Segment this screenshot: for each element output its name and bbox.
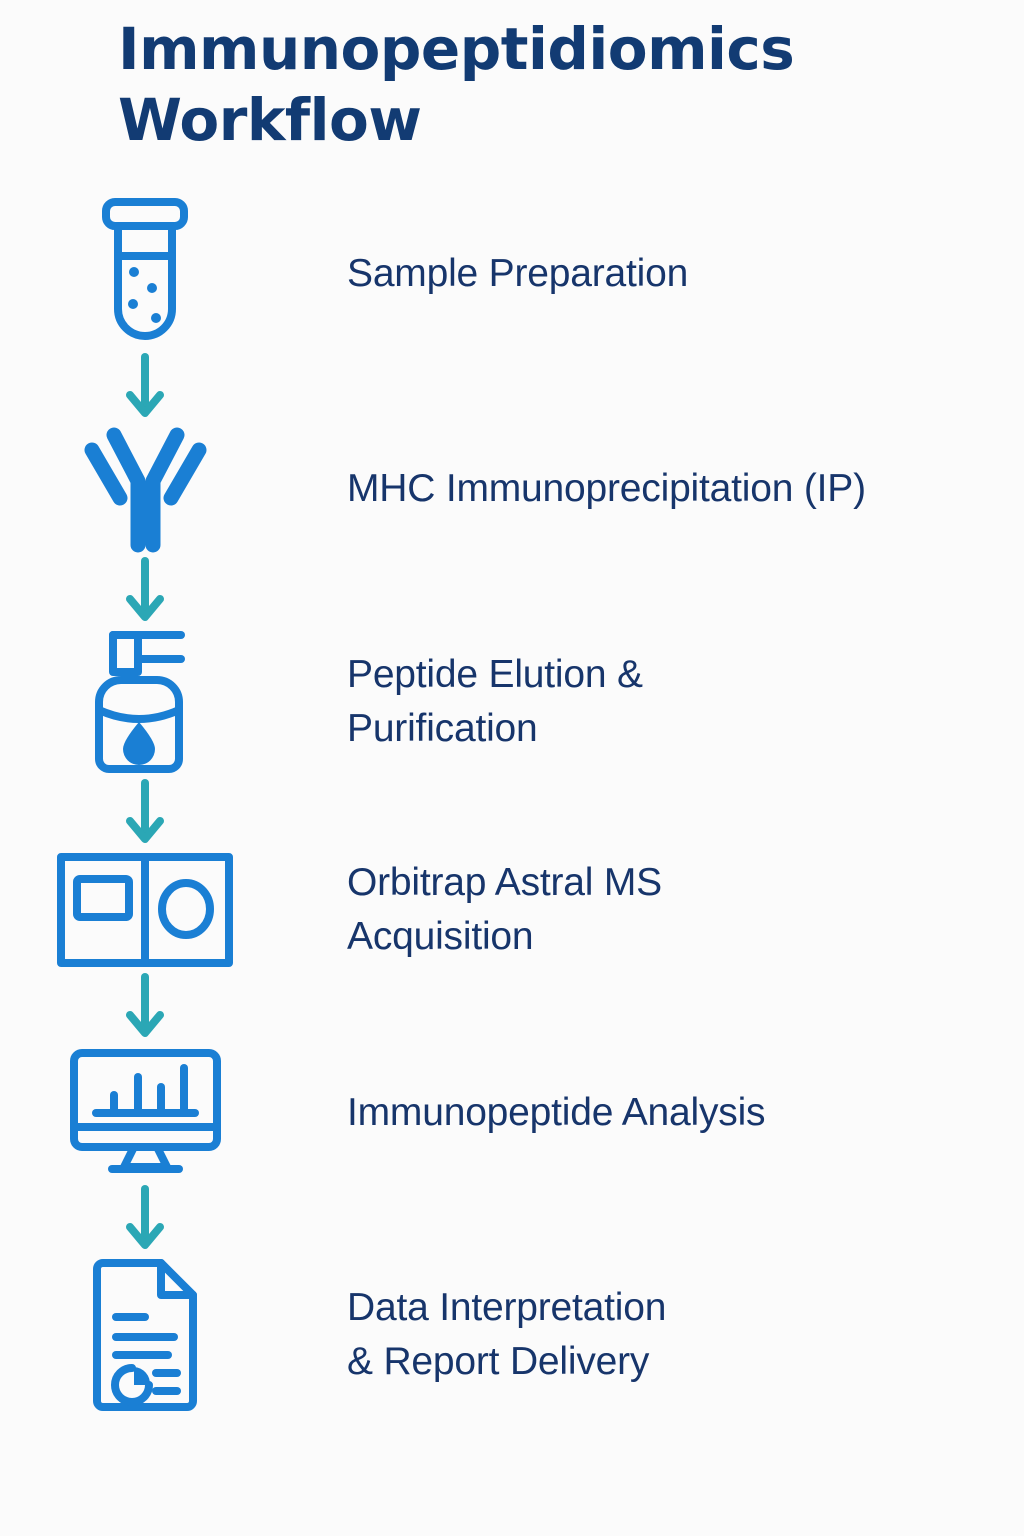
page-title: Immunopeptidiomics Workflow (118, 14, 918, 156)
workflow-step-3: Peptide Elution & Purification (0, 627, 1024, 777)
connector-3 (0, 777, 1024, 849)
workflow-step-1: Sample Preparation (0, 196, 1024, 351)
mass-spectrometer-icon (0, 849, 290, 971)
workflow-step-6: Data Interpretation & Report Delivery (0, 1255, 1024, 1415)
workflow-step-2: MHC Immunoprecipitation (IP) (0, 423, 1024, 555)
down-arrow-icon (0, 971, 290, 1043)
workflow-step-5: Immunopeptide Analysis (0, 1043, 1024, 1183)
down-arrow-icon (0, 777, 290, 849)
workflow-step-4-label: Orbitrap Astral MS Acquisition (290, 856, 662, 964)
connector-1 (0, 351, 1024, 423)
workflow-step-3-label: Peptide Elution & Purification (290, 648, 643, 756)
workflow-diagram: Immunopeptidiomics Workflow (0, 0, 1024, 1536)
workflow-step-5-label: Immunopeptide Analysis (290, 1086, 765, 1140)
workflow-step-1-label: Sample Preparation (290, 247, 688, 301)
down-arrow-icon (0, 555, 290, 627)
report-document-icon (0, 1255, 290, 1415)
connector-5 (0, 1183, 1024, 1255)
workflow-step-2-label: MHC Immunoprecipitation (IP) (290, 462, 866, 516)
down-arrow-icon (0, 351, 290, 423)
connector-2 (0, 555, 1024, 627)
pump-bottle-icon (0, 627, 290, 777)
down-arrow-icon (0, 1183, 290, 1255)
monitor-spectrum-icon (0, 1043, 290, 1183)
antibody-icon (0, 423, 290, 555)
workflow-step-4: Orbitrap Astral MS Acquisition (0, 849, 1024, 971)
test-tube-icon (0, 196, 290, 351)
workflow-step-list: Sample Preparation (0, 196, 1024, 1415)
connector-4 (0, 971, 1024, 1043)
workflow-step-6-label: Data Interpretation & Report Delivery (290, 1281, 666, 1389)
